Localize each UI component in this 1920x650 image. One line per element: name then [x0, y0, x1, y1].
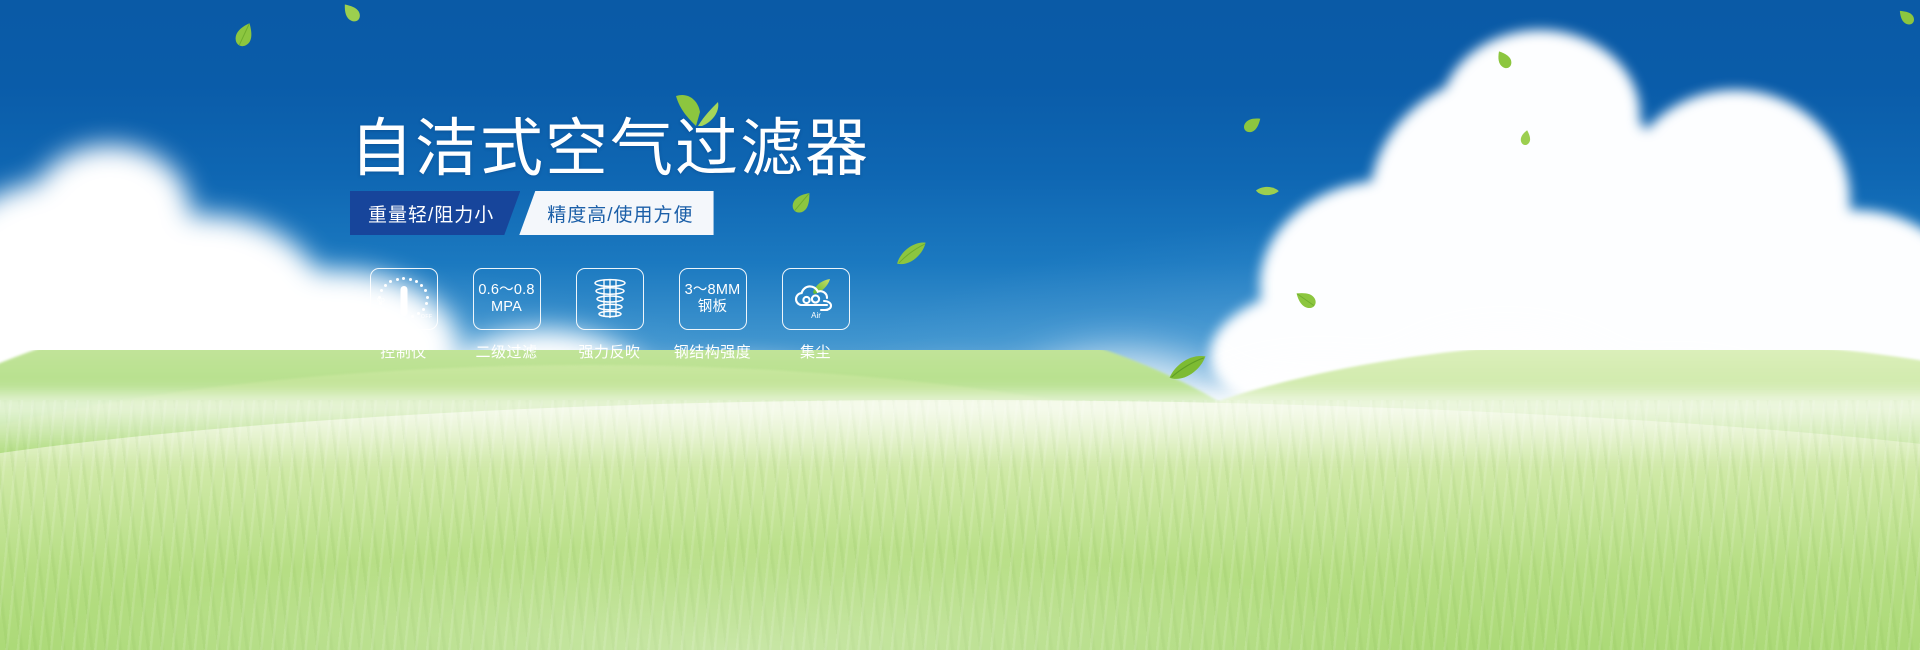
- feature-item-strong-backflush[interactable]: 强力反吹: [558, 268, 661, 362]
- badge-high-precision-easy-use[interactable]: 精度高/使用方便: [519, 191, 713, 235]
- banner-stage: 自洁式空气过滤器 重量轻/阻力小 精度高/使用方便: [0, 0, 1920, 650]
- feature-icon-box: [576, 268, 644, 330]
- gauge-label-no: NO: [377, 298, 386, 304]
- blowback-icon: [587, 276, 633, 322]
- feature-icon-box: 3〜8MM 钢板: [679, 268, 747, 330]
- feature-icon-box: Air: [782, 268, 850, 330]
- feature-icon-box: NO OFF: [370, 268, 438, 330]
- badge-lightweight-low-resistance[interactable]: 重量轻/阻力小: [350, 191, 520, 235]
- feature-caption: 钢结构强度: [674, 341, 752, 362]
- steel-plate-text: 钢板: [698, 299, 727, 316]
- air-label: Air: [811, 311, 821, 319]
- page-title: 自洁式空气过滤器: [350, 118, 870, 181]
- steel-thickness-text-icon: 3〜8MM: [685, 282, 741, 299]
- banner-content: 自洁式空气过滤器 重量轻/阻力小 精度高/使用方便: [0, 0, 1920, 650]
- pressure-unit-text: MPA: [491, 299, 522, 316]
- subtitle-badges: 重量轻/阻力小 精度高/使用方便: [350, 191, 714, 235]
- gauge-icon: NO OFF: [378, 277, 430, 321]
- feature-item-dust-collection[interactable]: Air 集尘: [764, 268, 867, 362]
- feature-caption: 二级过滤: [475, 341, 537, 362]
- pressure-text-icon: 0.6〜0.8: [478, 282, 534, 299]
- feature-item-controller[interactable]: NO OFF 控制仪: [352, 268, 455, 362]
- air-cloud-icon: Air: [791, 279, 841, 319]
- gauge-needle: [400, 286, 407, 316]
- feature-item-two-stage-filtration[interactable]: 0.6〜0.8 MPA 二级过滤: [455, 268, 558, 362]
- feature-caption: 控制仪: [380, 341, 427, 362]
- feature-caption: 集尘: [800, 341, 831, 362]
- feature-caption: 强力反吹: [578, 341, 640, 362]
- gauge-label-off: OFF: [421, 314, 433, 320]
- feature-list: NO OFF 控制仪 0.6〜0.8 MPA 二级过滤: [352, 268, 867, 362]
- feature-item-steel-strength[interactable]: 3〜8MM 钢板 钢结构强度: [661, 268, 764, 362]
- feature-icon-box: 0.6〜0.8 MPA: [473, 268, 541, 330]
